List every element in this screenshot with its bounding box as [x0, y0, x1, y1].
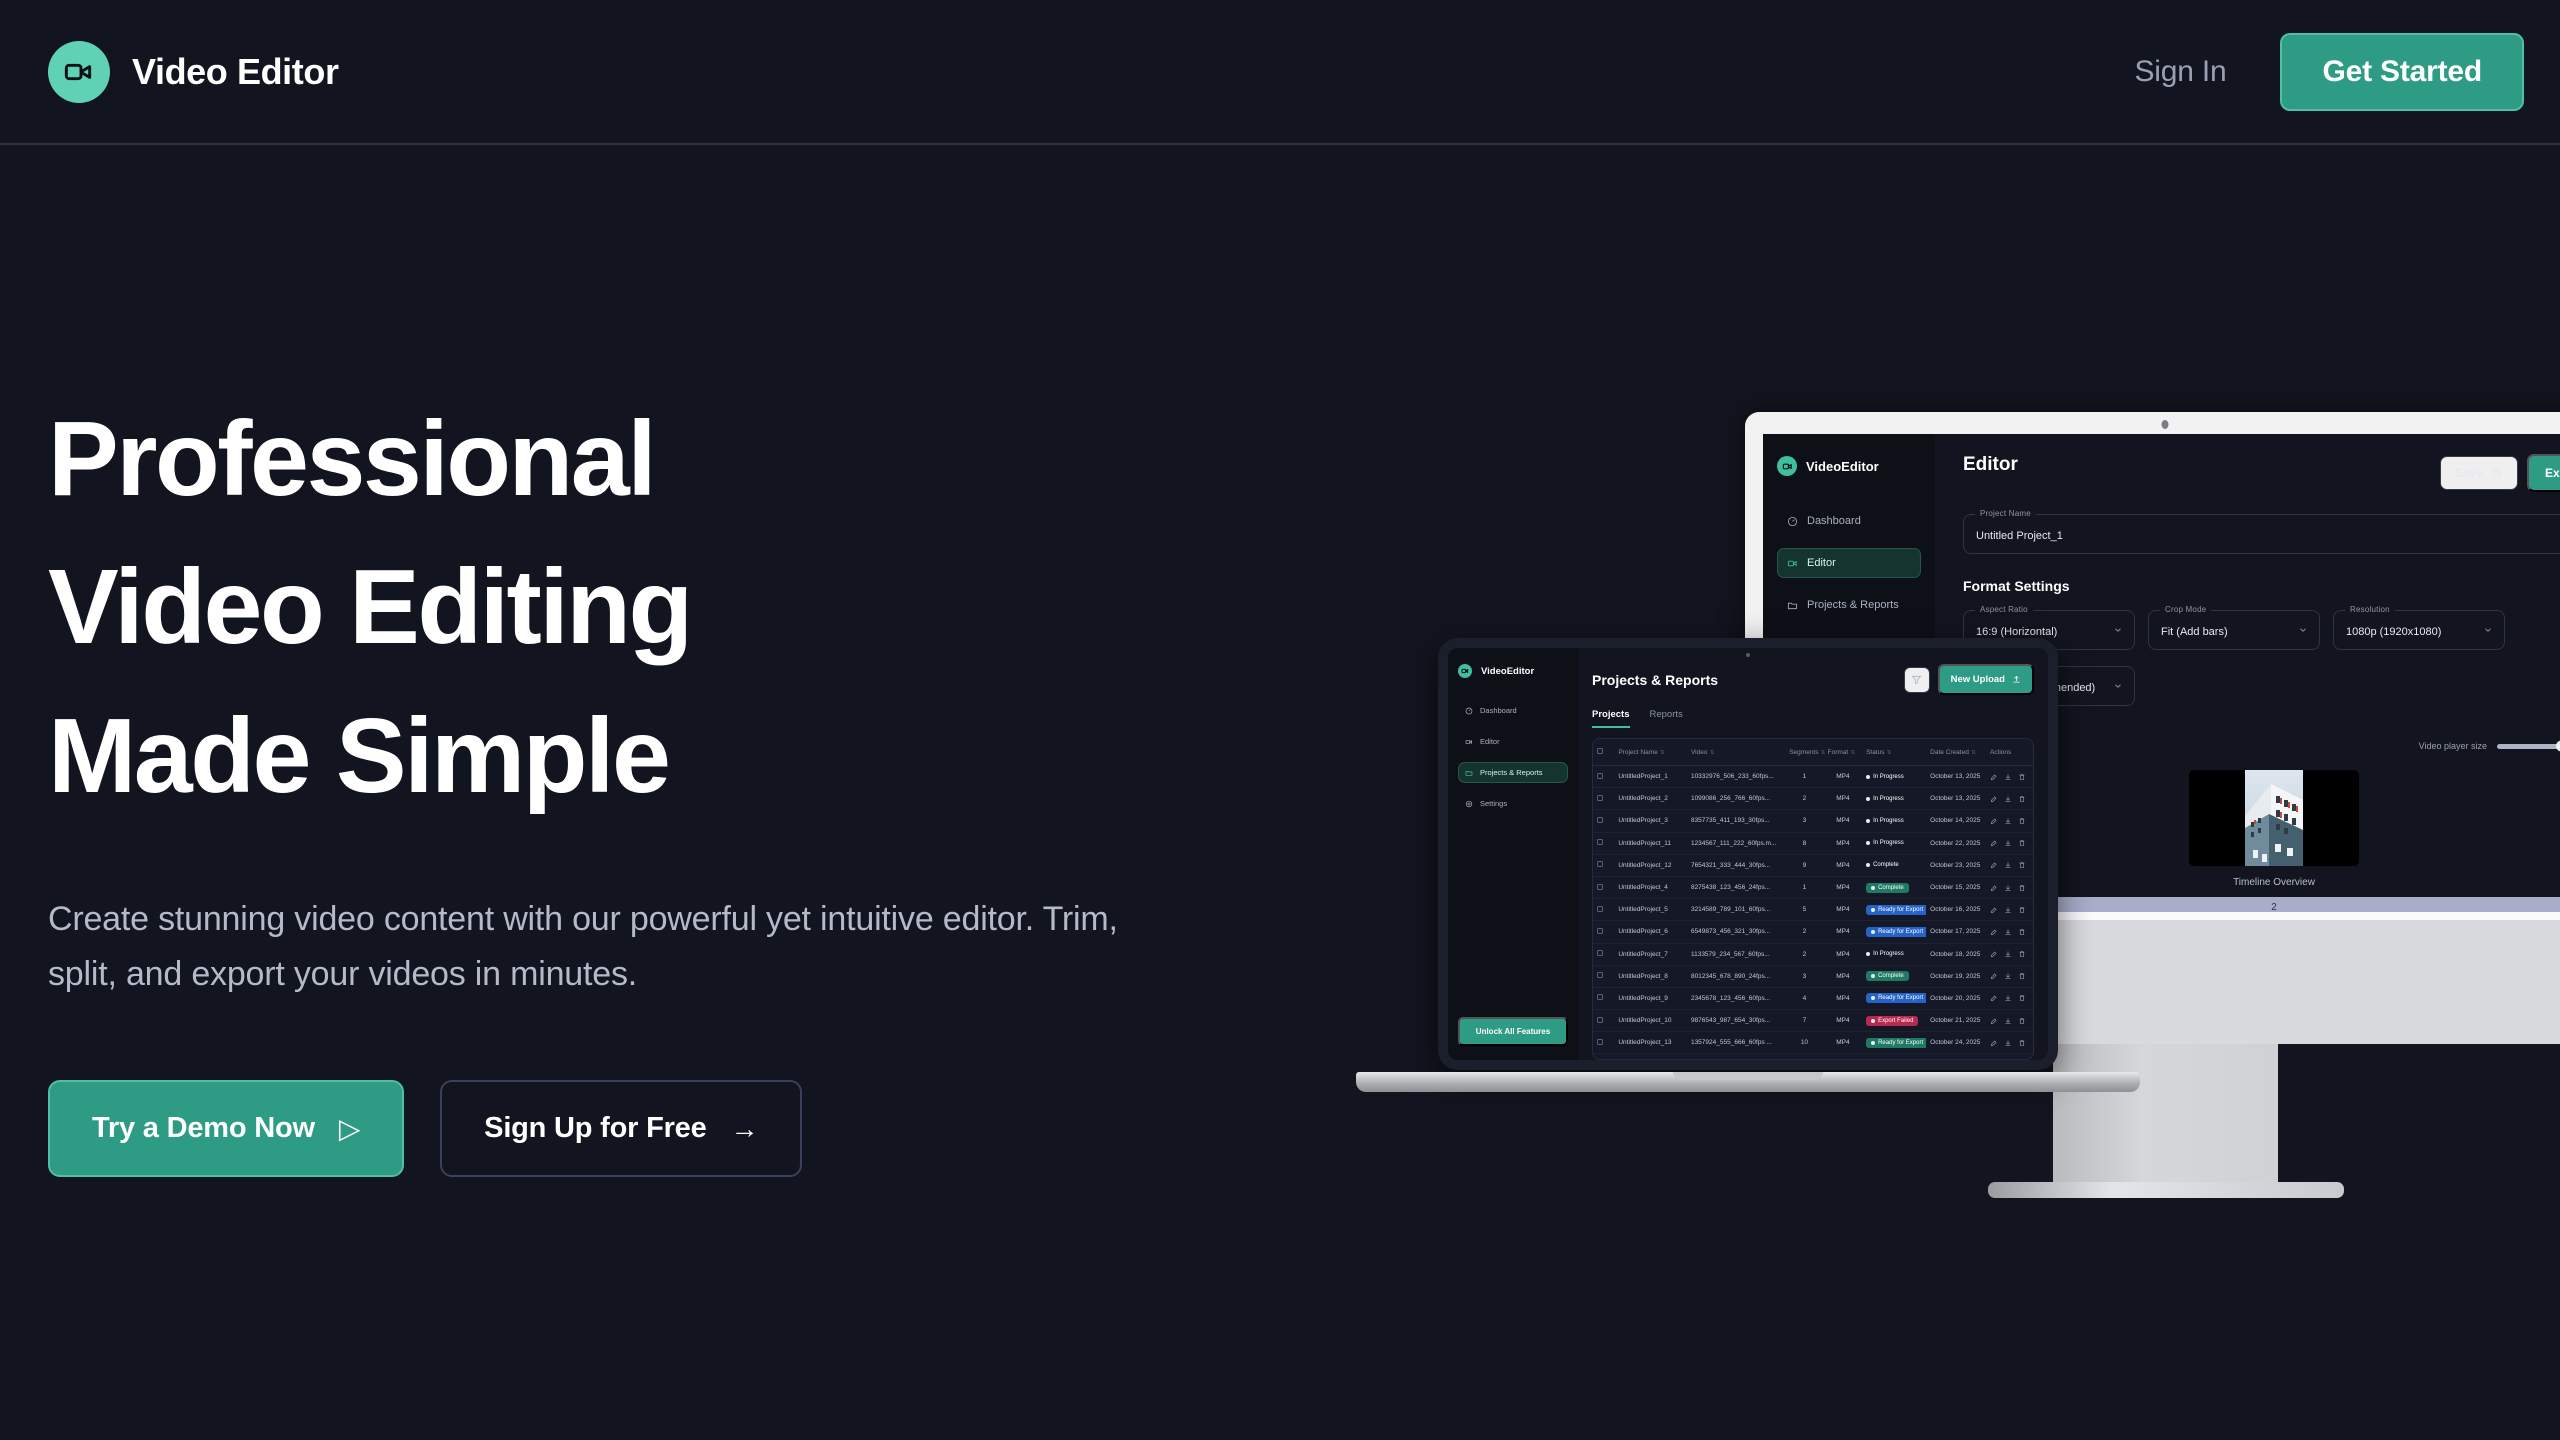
slider-thumb[interactable] — [2556, 741, 2560, 752]
projects-brand-name: VideoEditor — [1481, 666, 1534, 677]
row-checkbox-cell[interactable] — [1593, 810, 1614, 832]
cell-status: Ready for Export — [1862, 899, 1926, 921]
laptop-base — [1356, 1072, 2140, 1092]
row-checkbox-cell[interactable] — [1593, 1054, 1614, 1060]
brand[interactable]: Video Editor — [48, 41, 339, 103]
download-icon — [2004, 994, 2012, 1002]
cell-project-name: UntitledProject_5 — [1614, 899, 1687, 921]
row-checkbox-cell[interactable] — [1593, 876, 1614, 898]
status-badge: Ready for Export — [1866, 993, 1926, 1003]
cell-project-name: UntitledProject_12 — [1614, 854, 1687, 876]
sign-in-link[interactable]: Sign In — [2134, 55, 2226, 89]
row-checkbox-cell[interactable] — [1593, 943, 1614, 965]
video-camera-icon — [1787, 558, 1798, 569]
cell-status: Complete — [1862, 854, 1926, 876]
download-icon — [2004, 928, 2012, 936]
status-badge: In Progress — [1866, 949, 1909, 959]
status-dot-icon — [1871, 886, 1875, 890]
status-badge: In Progress — [1866, 838, 1909, 848]
trash-icon — [2018, 795, 2026, 803]
hero-title-line-1: Professional — [48, 385, 1168, 533]
cell-segments: 8 — [1785, 832, 1823, 854]
status-badge: In Progress — [1866, 794, 1909, 804]
cell-project-name: UntitledProject_13 — [1614, 1032, 1687, 1054]
tab-reports[interactable]: Reports — [1650, 709, 1683, 728]
folder-icon — [1787, 600, 1798, 611]
trash-icon — [2018, 861, 2026, 869]
cell-status: In Progress — [1862, 788, 1926, 810]
status-badge: Ready for Export — [1866, 927, 1926, 937]
cell-project-name: UntitledProject_3 — [1614, 810, 1687, 832]
format-settings-title: Format Settings — [1963, 578, 2560, 594]
trash-icon — [2018, 950, 2026, 958]
edit-icon — [1990, 861, 1998, 869]
download-icon — [2004, 773, 2012, 781]
cell-date-created: October 22, 2025 — [1926, 832, 1986, 854]
cell-segments: 9 — [1785, 854, 1823, 876]
cell-format: MP4 — [1824, 943, 1862, 965]
checkbox-icon[interactable] — [1597, 817, 1603, 823]
sidebar-label: Editor — [1480, 737, 1500, 746]
cell-status: Ready for Export — [1862, 1032, 1926, 1054]
checkbox-icon[interactable] — [1597, 994, 1603, 1000]
video-frame-thumbnail — [2245, 770, 2303, 866]
cell-actions — [1986, 788, 2033, 810]
row-checkbox-cell[interactable] — [1593, 788, 1614, 810]
row-checkbox-cell[interactable] — [1593, 854, 1614, 876]
status-dot-icon — [1866, 775, 1870, 779]
trash-icon — [2018, 928, 2026, 936]
cell-segments: 11 — [1785, 1054, 1823, 1060]
cell-segments: 1 — [1785, 766, 1823, 788]
row-checkbox-cell[interactable] — [1593, 832, 1614, 854]
cell-project-name: UntitledProject_11 — [1614, 832, 1687, 854]
sidebar-item-projects-reports[interactable]: Projects & Reports — [1458, 762, 1568, 783]
trash-icon — [2018, 817, 2026, 825]
cell-status: Complete — [1862, 965, 1926, 987]
table-row[interactable]: UntitledProject_66549873_456_321_30fps..… — [1593, 921, 2033, 943]
cell-project-name: UntitledProject_1 — [1614, 766, 1687, 788]
cell-actions — [1986, 1032, 2033, 1054]
row-checkbox-cell[interactable] — [1593, 766, 1614, 788]
try-demo-button[interactable]: Try a Demo Now ▷ — [48, 1080, 404, 1177]
column-date-created[interactable]: Date Created⇅ — [1926, 739, 1986, 766]
table-row[interactable]: UntitledProject_142468135_777_888_24fps.… — [1593, 1054, 2033, 1060]
column-video[interactable]: Video⇅ — [1687, 739, 1785, 766]
cell-video: 9876543_987_654_30fps... — [1687, 1010, 1785, 1032]
cell-actions — [1986, 854, 2033, 876]
projects-main: Projects & Reports New Upload — [1578, 648, 2048, 1060]
status-dot-icon — [1866, 952, 1870, 956]
cell-segments: 10 — [1785, 1032, 1823, 1054]
resolution-label: Resolution — [2345, 605, 2395, 614]
cell-status: In Progress — [1862, 943, 1926, 965]
project-name-label: Project Name — [1975, 509, 2036, 518]
cell-actions — [1986, 766, 2033, 788]
cell-date-created: October 23, 2025 — [1926, 854, 1986, 876]
cell-date-created: October 14, 2025 — [1926, 810, 1986, 832]
projects-topbar: Projects & Reports New Upload — [1592, 664, 2034, 695]
video-camera-icon — [1465, 738, 1473, 746]
column-label: Segments — [1789, 749, 1818, 756]
status-dot-icon — [1866, 819, 1870, 823]
player-size-control[interactable]: Video player size — [2419, 741, 2560, 751]
cell-status: Ready for Export — [1862, 987, 1926, 1009]
checkbox-icon[interactable] — [1597, 795, 1603, 801]
download-icon — [2004, 950, 2012, 958]
table-row[interactable]: UntitledProject_38357735_411_193_30fps..… — [1593, 810, 2033, 832]
cell-format: MP4 — [1824, 1032, 1862, 1054]
cell-status: Ready for Export — [1862, 921, 1926, 943]
column-segments[interactable]: Segments⇅ — [1785, 739, 1823, 766]
trash-icon — [2018, 906, 2026, 914]
cell-project-name: UntitledProject_7 — [1614, 943, 1687, 965]
editor-sidebar-brand: VideoEditor — [1777, 456, 1921, 476]
cell-segments: 2 — [1785, 943, 1823, 965]
edit-icon — [1990, 950, 1998, 958]
sort-icon: ⇅ — [1887, 750, 1892, 756]
cell-date-created: October 17, 2025 — [1926, 921, 1986, 943]
status-badge: Ready for Export — [1866, 1038, 1926, 1048]
checkbox-icon[interactable] — [1597, 1017, 1603, 1023]
sidebar-item-dashboard[interactable]: Dashboard — [1458, 700, 1568, 721]
video-player[interactable] — [2189, 770, 2359, 866]
sidebar-item-settings[interactable]: Settings — [1458, 793, 1568, 814]
column-label: Project Name — [1618, 749, 1657, 756]
cell-date-created: October 15, 2025 — [1926, 876, 1986, 898]
table-header-row: Project Name⇅ Video⇅ Segments⇅ Format⇅ S… — [1593, 739, 2033, 766]
edit-icon — [1990, 817, 1998, 825]
status-badge: In Progress — [1866, 816, 1909, 826]
cell-actions — [1986, 1054, 2033, 1060]
cell-date-created: October 13, 2025 — [1926, 788, 1986, 810]
play-triangle-icon: ▷ — [339, 1115, 360, 1143]
edit-icon — [1990, 994, 1998, 1002]
table-row[interactable]: UntitledProject_127654321_333_444_30fps.… — [1593, 854, 2033, 876]
editor-brand-name: VideoEditor — [1806, 459, 1879, 474]
cell-actions — [1986, 810, 2033, 832]
checkbox-icon[interactable] — [1597, 884, 1603, 890]
resolution-value: 1080p (1920x1080) — [2346, 626, 2441, 638]
column-format[interactable]: Format⇅ — [1824, 739, 1862, 766]
cell-segments: 1 — [1785, 876, 1823, 898]
row-checkbox-cell[interactable] — [1593, 1010, 1614, 1032]
status-dot-icon — [1866, 841, 1870, 845]
cell-actions — [1986, 965, 2033, 987]
cell-actions — [1986, 1010, 2033, 1032]
status-dot-icon — [1871, 974, 1875, 978]
status-badge: Complete — [1866, 971, 1909, 981]
cell-video: 2345678_123_456_60fps... — [1687, 987, 1785, 1009]
laptop-mockup: VideoEditor Dashboard Editor — [1438, 638, 2078, 1100]
gauge-icon — [1787, 516, 1798, 527]
column-actions: Actions — [1986, 739, 2033, 766]
projects-tabs: Projects Reports — [1592, 709, 2034, 728]
cell-format: MP4 — [1824, 876, 1862, 898]
edit-icon — [1990, 928, 1998, 936]
row-checkbox-cell[interactable] — [1593, 987, 1614, 1009]
edit-icon — [1990, 773, 1998, 781]
cell-video: 1357924_555_666_60fps ... — [1687, 1032, 1785, 1054]
unlock-all-features-button[interactable]: Unlock All Features — [1458, 1017, 1568, 1046]
filter-button[interactable] — [1904, 667, 1930, 693]
cell-segments: 5 — [1785, 899, 1823, 921]
cell-status: In Progress — [1862, 766, 1926, 788]
sidebar-label: Projects & Reports — [1480, 768, 1543, 777]
status-badge: Complete — [1866, 883, 1909, 893]
laptop-body: VideoEditor Dashboard Editor — [1438, 638, 2058, 1070]
cell-video: 8275438_123_456_24fps... — [1687, 876, 1785, 898]
sort-icon: ⇅ — [1971, 750, 1976, 756]
download-icon — [2004, 906, 2012, 914]
crop-mode-select[interactable]: Crop Mode Fit (Add bars) — [2148, 610, 2320, 650]
hero-subtitle: Create stunning video content with our p… — [48, 892, 1118, 1002]
row-checkbox-cell[interactable] — [1593, 965, 1614, 987]
column-label: Video — [1691, 749, 1708, 756]
cell-status: Complete — [1862, 876, 1926, 898]
cell-project-name: UntitledProject_4 — [1614, 876, 1687, 898]
checkbox-icon[interactable] — [1597, 748, 1603, 754]
hero-section: Professional Video Editing Made Simple C… — [48, 385, 1168, 1177]
page-title: Professional Video Editing Made Simple — [48, 385, 1168, 830]
cell-video: 6549873_456_321_30fps... — [1687, 921, 1785, 943]
cell-segments: 2 — [1785, 921, 1823, 943]
column-label: Date Created — [1930, 749, 1969, 756]
cell-actions — [1986, 943, 2033, 965]
edit-icon — [1990, 1039, 1998, 1047]
cell-segments: 4 — [1785, 987, 1823, 1009]
projects-table-body: UntitledProject_110332976_506_233_60fps.… — [1593, 766, 2033, 1061]
cell-project-name: UntitledProject_14 — [1614, 1054, 1687, 1060]
cell-date-created: October 21, 2025 — [1926, 1010, 1986, 1032]
projects-nav: Dashboard Editor Projects & Reports — [1458, 700, 1568, 814]
cell-segments: 7 — [1785, 1010, 1823, 1032]
sidebar-item-editor[interactable]: Editor — [1458, 731, 1568, 752]
aspect-ratio-label: Aspect Ratio — [1975, 605, 2033, 614]
cell-status: In Progress — [1862, 810, 1926, 832]
tab-projects[interactable]: Projects — [1592, 709, 1630, 728]
get-started-button[interactable]: Get Started — [2280, 33, 2524, 111]
cell-video: 10332976_506_233_60fps... — [1687, 766, 1785, 788]
checkbox-icon[interactable] — [1597, 972, 1603, 978]
table-row[interactable]: UntitledProject_109876543_987_654_30fps.… — [1593, 1010, 2033, 1032]
resolution-select[interactable]: Resolution 1080p (1920x1080) — [2333, 610, 2505, 650]
player-size-label: Video player size — [2419, 741, 2487, 751]
status-dot-icon — [1871, 996, 1875, 1000]
checkbox-icon[interactable] — [1597, 773, 1603, 779]
save-label: Save — [2455, 466, 2483, 480]
sidebar-item-projects-reports[interactable]: Projects & Reports — [1777, 590, 1921, 620]
table-row[interactable]: UntitledProject_71133579_234_567_60fps..… — [1593, 943, 2033, 965]
projects-page-title: Projects & Reports — [1592, 672, 1718, 688]
project-name-field[interactable]: Project Name Untitled Project_1 — [1963, 514, 2560, 554]
cell-video: 8012345_678_890_24fps... — [1687, 965, 1785, 987]
hero-cta-group: Try a Demo Now ▷ Sign Up for Free → — [48, 1080, 1168, 1177]
folder-icon — [1465, 769, 1473, 777]
chevron-down-icon — [2483, 625, 2493, 635]
table-row[interactable]: UntitledProject_111234567_111_222_60fps.… — [1593, 832, 2033, 854]
trash-icon — [2018, 839, 2026, 847]
new-upload-button[interactable]: New Upload — [1938, 664, 2034, 695]
checkbox-icon[interactable] — [1597, 1039, 1603, 1045]
sidebar-item-editor[interactable]: Editor — [1777, 548, 1921, 578]
cell-actions — [1986, 921, 2033, 943]
export-button[interactable]: Exp — [2527, 454, 2560, 492]
cell-segments: 3 — [1785, 810, 1823, 832]
row-checkbox-cell[interactable] — [1593, 921, 1614, 943]
laptop-base-notch — [1673, 1072, 1823, 1080]
cell-video: 8357735_411_193_30fps... — [1687, 810, 1785, 832]
cell-segments: 2 — [1785, 788, 1823, 810]
edit-icon — [1990, 906, 1998, 914]
cell-segments: 3 — [1785, 965, 1823, 987]
column-label: Status — [1866, 749, 1884, 756]
upload-icon — [2012, 675, 2021, 684]
edit-icon — [1990, 839, 1998, 847]
projects-table: Project Name⇅ Video⇅ Segments⇅ Format⇅ S… — [1593, 739, 2033, 1060]
column-project-name[interactable]: Project Name⇅ — [1614, 739, 1687, 766]
cell-date-created: October 20, 2025 — [1926, 987, 1986, 1009]
cell-video: 3214589_789_101_60fps... — [1687, 899, 1785, 921]
status-dot-icon — [1871, 930, 1875, 934]
save-button[interactable]: Save — [2440, 456, 2518, 490]
column-select-all[interactable] — [1593, 739, 1614, 766]
webcam-dot-icon — [2162, 420, 2169, 429]
editor-page-title: Editor — [1963, 454, 2018, 476]
project-name-value: Untitled Project_1 — [1976, 530, 2063, 542]
sign-up-label: Sign Up for Free — [484, 1112, 706, 1145]
monitor-stand-neck — [2053, 1044, 2278, 1194]
row-checkbox-cell[interactable] — [1593, 1032, 1614, 1054]
cell-project-name: UntitledProject_8 — [1614, 965, 1687, 987]
table-row[interactable]: UntitledProject_21099086_256_766_60fps..… — [1593, 788, 2033, 810]
edit-icon — [1990, 795, 1998, 803]
cell-project-name: UntitledProject_9 — [1614, 987, 1687, 1009]
landing-page: Video Editor Sign In Get Started Profess… — [0, 0, 2560, 1440]
checkbox-icon[interactable] — [1597, 861, 1603, 867]
table-row[interactable]: UntitledProject_110332976_506_233_60fps.… — [1593, 766, 2033, 788]
column-status[interactable]: Status⇅ — [1862, 739, 1926, 766]
cell-format: MP4 — [1824, 921, 1862, 943]
download-icon — [2004, 972, 2012, 980]
cell-actions — [1986, 876, 2033, 898]
cell-video: 1234567_111_222_60fps.m... — [1687, 832, 1785, 854]
chevron-down-icon — [2298, 625, 2308, 635]
video-camera-icon — [1777, 456, 1797, 476]
cell-format: MP4 — [1824, 832, 1862, 854]
sidebar-item-dashboard[interactable]: Dashboard — [1777, 506, 1921, 536]
download-icon — [2004, 839, 2012, 847]
cell-format: MP4 — [1824, 766, 1862, 788]
download-icon — [2004, 884, 2012, 892]
projects-toolbar: New Upload — [1904, 664, 2034, 695]
edit-icon — [1990, 884, 1998, 892]
cell-format: MP4 — [1824, 987, 1862, 1009]
crop-mode-value: Fit (Add bars) — [2161, 626, 2228, 638]
projects-table-head: Project Name⇅ Video⇅ Segments⇅ Format⇅ S… — [1593, 739, 2033, 766]
video-camera-icon — [1458, 664, 1472, 678]
table-row[interactable]: UntitledProject_92345678_123_456_60fps..… — [1593, 987, 2033, 1009]
sort-icon: ⇅ — [1821, 750, 1826, 756]
hero-title-line-2: Video Editing — [48, 533, 1168, 681]
sidebar-label: Settings — [1480, 799, 1507, 808]
status-dot-icon — [1871, 908, 1875, 912]
cell-video: 2468135_777_888_24fps... — [1687, 1054, 1785, 1060]
editor-topbar: Editor Save Exp — [1963, 454, 2560, 492]
laptop-notch — [1712, 648, 1784, 662]
status-badge: Export Failed — [1866, 1016, 1918, 1026]
edit-icon — [1990, 1017, 1998, 1025]
cell-date-created: October 19, 2025 — [1926, 965, 1986, 987]
table-row[interactable]: UntitledProject_53214589_789_101_60fps..… — [1593, 899, 2033, 921]
cell-status: In Progress — [1862, 832, 1926, 854]
projects-sidebar: VideoEditor Dashboard Editor — [1448, 648, 1578, 1060]
cell-date-created: October 24, 2025 — [1926, 1032, 1986, 1054]
checkbox-icon[interactable] — [1597, 928, 1603, 934]
trash-icon — [2018, 994, 2026, 1002]
trash-icon — [2018, 972, 2026, 980]
download-icon — [2004, 1017, 2012, 1025]
cell-actions — [1986, 832, 2033, 854]
status-badge: In Progress — [1866, 772, 1909, 782]
sidebar-label: Dashboard — [1807, 515, 1861, 527]
brand-name: Video Editor — [132, 51, 339, 93]
sidebar-label: Projects & Reports — [1807, 599, 1899, 611]
checkbox-icon[interactable] — [1597, 839, 1603, 845]
laptop-screen: VideoEditor Dashboard Editor — [1448, 648, 2048, 1060]
cell-status: Export Failed — [1862, 1010, 1926, 1032]
monitor-stand-foot — [1988, 1182, 2344, 1198]
cell-project-name: UntitledProject_2 — [1614, 788, 1687, 810]
projects-app: VideoEditor Dashboard Editor — [1448, 648, 2048, 1060]
cell-format: MP4 — [1824, 788, 1862, 810]
chevron-down-icon — [2113, 681, 2123, 691]
projects-table-container: Project Name⇅ Video⇅ Segments⇅ Format⇅ S… — [1592, 738, 2034, 1060]
download-icon — [2004, 861, 2012, 869]
gear-icon — [1465, 800, 1473, 808]
cell-status: In Progress — [1862, 1054, 1926, 1060]
status-dot-icon — [1871, 1041, 1875, 1045]
save-disk-icon — [2492, 468, 2503, 479]
filter-icon — [1911, 674, 1922, 685]
edit-icon — [1990, 972, 1998, 980]
cell-video: 7654321_333_444_30fps... — [1687, 854, 1785, 876]
cell-format: MP4 — [1824, 810, 1862, 832]
table-row[interactable]: UntitledProject_48275438_123_456_24fps..… — [1593, 876, 2033, 898]
cell-video: 1133579_234_567_60fps... — [1687, 943, 1785, 965]
row-checkbox-cell[interactable] — [1593, 899, 1614, 921]
table-row[interactable]: UntitledProject_131357924_555_666_60fps … — [1593, 1032, 2033, 1054]
checkbox-icon[interactable] — [1597, 906, 1603, 912]
player-size-slider[interactable] — [2497, 744, 2560, 749]
site-header: Video Editor Sign In Get Started — [0, 0, 2560, 145]
cell-format: MP4 — [1824, 965, 1862, 987]
cell-format: MP4 — [1824, 899, 1862, 921]
checkbox-icon[interactable] — [1597, 950, 1603, 956]
cell-project-name: UntitledProject_6 — [1614, 921, 1687, 943]
video-camera-icon — [48, 41, 110, 103]
trash-icon — [2018, 1017, 2026, 1025]
sort-icon: ⇅ — [1850, 750, 1855, 756]
try-demo-label: Try a Demo Now — [92, 1112, 315, 1145]
new-upload-label: New Upload — [1951, 674, 2005, 685]
status-dot-icon — [1871, 1019, 1875, 1023]
trash-icon — [2018, 773, 2026, 781]
header-actions: Sign In Get Started — [2134, 33, 2524, 111]
table-row[interactable]: UntitledProject_88012345_678_890_24fps..… — [1593, 965, 2033, 987]
sign-up-button[interactable]: Sign Up for Free → — [440, 1080, 802, 1177]
status-dot-icon — [1866, 863, 1870, 867]
